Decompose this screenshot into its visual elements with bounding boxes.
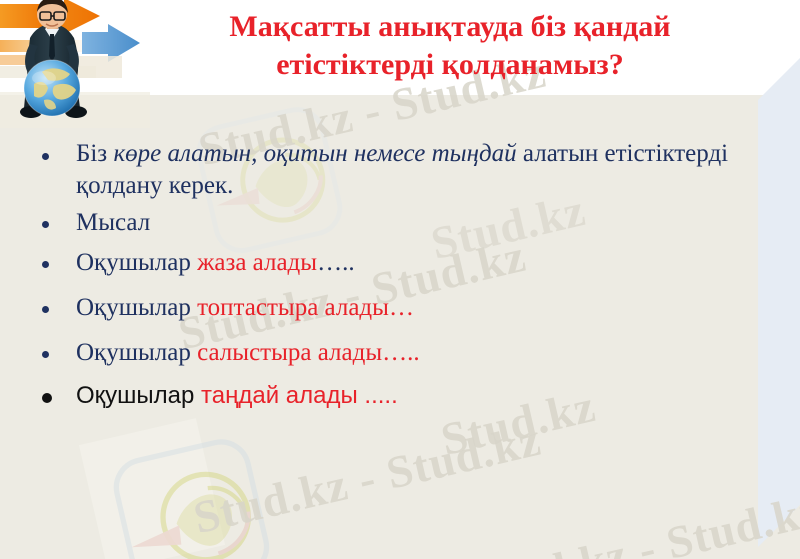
bullet-marker-icon — [38, 206, 76, 242]
text-segment-highlight: топтастыра алады… — [197, 294, 414, 321]
title-line-1: Мақсатты анықтауда біз қандай — [150, 8, 750, 46]
list-item-text: Оқушылар таңдай алады ..... — [76, 379, 768, 412]
text-segment-highlight: таңдай алады ..... — [201, 382, 398, 409]
title-line-2: етістіктерді қолданамыз? — [150, 46, 750, 84]
text-segment: ….. — [317, 249, 355, 276]
slide-canvas: Stud.kz - Stud.kz Stud.kz - Stud.kz Stud… — [0, 0, 800, 559]
list-item-text: Оқушылар жаза алады….. — [76, 246, 768, 279]
bullet-marker-icon — [38, 291, 76, 327]
list-item: Оқушылар топтастыра алады… — [38, 291, 768, 327]
list-item: Біз көре алатын, оқитын немесе тыңдай ал… — [38, 138, 768, 202]
list-item: Мысал — [38, 206, 768, 242]
list-item: Оқушылар салыстыра алады….. — [38, 336, 768, 372]
bullet-list: Біз көре алатын, оқитын немесе тыңдай ал… — [38, 138, 768, 417]
list-item-text: Оқушылар топтастыра алады… — [76, 291, 768, 324]
text-segment: Оқушылар — [76, 249, 197, 276]
text-segment: Оқушылар — [76, 339, 197, 366]
list-item: Оқушылар таңдай алады ..... — [38, 379, 768, 415]
text-segment-highlight: салыстыра алады….. — [197, 339, 420, 366]
bullet-marker-icon — [38, 246, 76, 282]
bullet-marker-icon — [38, 138, 76, 174]
list-item: Оқушылар жаза алады….. — [38, 246, 768, 282]
text-segment: Мысал — [76, 209, 150, 236]
businessman-with-globe-image — [0, 0, 150, 128]
text-segment: Біз — [76, 140, 113, 167]
text-segment: Оқушылар — [76, 294, 197, 321]
bullet-marker-icon — [38, 336, 76, 372]
text-segment-italic: көре алатын, оқитын немесе тыңдай — [113, 140, 516, 167]
list-item-text: Мысал — [76, 206, 768, 239]
bullet-marker-icon — [38, 379, 76, 415]
list-item-text: Біз көре алатын, оқитын немесе тыңдай ал… — [76, 138, 768, 202]
list-item-text: Оқушылар салыстыра алады….. — [76, 336, 768, 369]
text-segment-highlight: жаза алады — [197, 249, 317, 276]
text-segment: Оқушылар — [76, 382, 201, 409]
page-title: Мақсатты анықтауда біз қандай етістіктер… — [150, 8, 750, 84]
